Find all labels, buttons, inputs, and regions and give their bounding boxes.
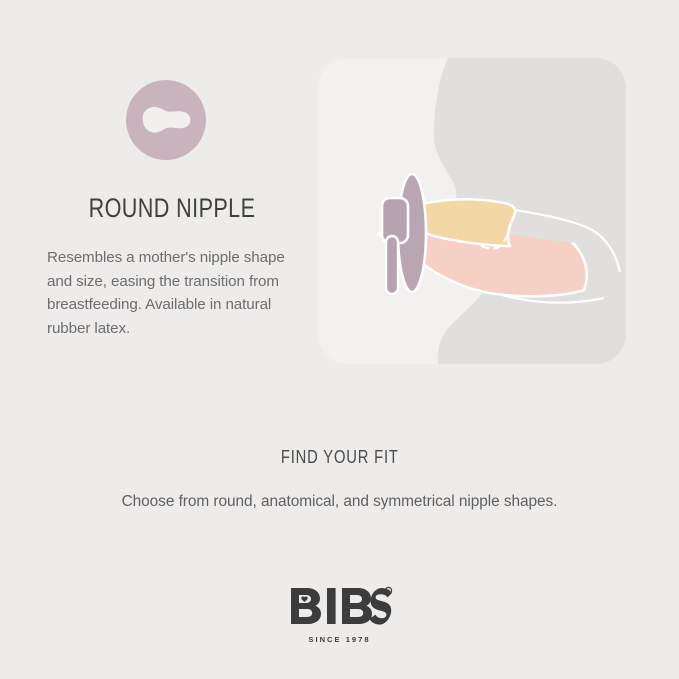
brand-tagline: SINCE 1978 [0, 635, 679, 644]
illustration-card [318, 58, 626, 364]
find-your-fit-subtext: Choose from round, anatomical, and symme… [0, 492, 679, 512]
brand-wordmark: R [287, 586, 393, 631]
pacifier-handle [386, 236, 398, 294]
feature-title: ROUND NIPPLE [72, 195, 272, 222]
feature-description: Resembles a mother's nipple shape and si… [47, 246, 291, 340]
baby-head-profile-with-pacifier-illustration [318, 58, 626, 364]
svg-text:R: R [386, 588, 389, 593]
brand-logo: R SINCE 1978 [0, 586, 679, 644]
bibs-wordmark-icon: R [287, 586, 393, 626]
find-your-fit-heading: FIND YOUR FIT [0, 448, 679, 466]
product-feature-panel: ROUND NIPPLE Resembles a mother's nipple… [0, 0, 679, 679]
find-your-fit-heading-text: FIND YOUR FIT [281, 448, 399, 466]
feature-text-column: ROUND NIPPLE Resembles a mother's nipple… [47, 80, 297, 340]
round-nipple-silhouette-icon [142, 106, 191, 134]
round-nipple-badge [126, 80, 206, 160]
